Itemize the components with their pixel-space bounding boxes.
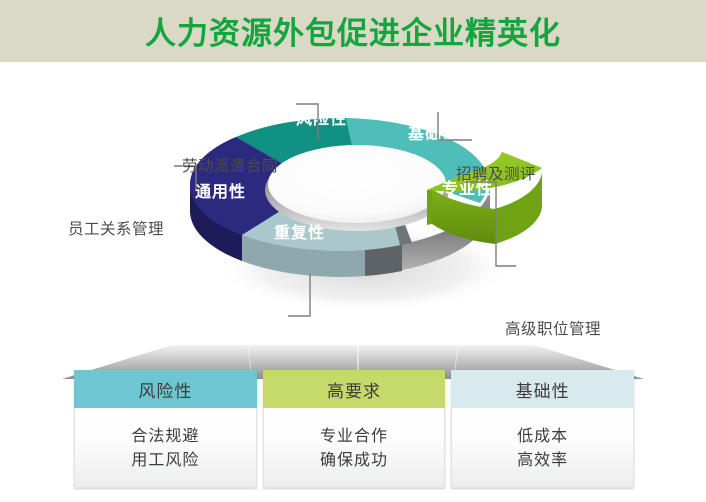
table-cell-risk-line1: 合法规避 bbox=[131, 424, 199, 447]
callout-label-employee-relations: 员工关系管理 bbox=[68, 217, 164, 239]
segment-label-repetitive: 重复性 bbox=[274, 223, 325, 242]
segment-label-general: 通用性 bbox=[195, 182, 246, 201]
table-column-risk[interactable]: 风险性 合法规避 用工风险 bbox=[74, 370, 257, 488]
table-body-basic: 低成本 高效率 bbox=[451, 408, 634, 488]
table-column-high-requirement[interactable]: 高要求 专业合作 确保成功 bbox=[263, 370, 446, 488]
summary-table: 风险性 合法规避 用工风险 高要求 专业合作 确保成功 基础性 低成本 高效率 bbox=[0, 337, 706, 502]
ring-hole-face bbox=[268, 145, 446, 223]
callout-label-labor-dispatch-contract: 劳动派遣合同 bbox=[182, 154, 278, 176]
callout-label-recruitment-assessment: 招聘及测评 bbox=[456, 162, 536, 184]
3d-doughnut-chart: 风险性 基础性 通用性 重复性 专业性 bbox=[150, 72, 570, 332]
table-header-high-requirement: 高要求 bbox=[263, 370, 446, 408]
table-cell-hr-line2: 确保成功 bbox=[320, 448, 388, 471]
table-header-basic: 基础性 bbox=[451, 370, 634, 408]
segment-professional-edge bbox=[427, 189, 432, 225]
title-band: 人力资源外包促进企业精英化 bbox=[0, 0, 706, 62]
segment-label-risk: 风险性 bbox=[296, 109, 347, 128]
table-columns: 风险性 合法规避 用工风险 高要求 专业合作 确保成功 基础性 低成本 高效率 bbox=[74, 370, 634, 488]
table-column-basic[interactable]: 基础性 低成本 高效率 bbox=[451, 370, 634, 488]
table-cell-hr-line1: 专业合作 bbox=[320, 424, 388, 447]
segment-label-basic: 基础性 bbox=[407, 124, 459, 143]
table-body-high-requirement: 专业合作 确保成功 bbox=[263, 408, 446, 488]
table-header-risk: 风险性 bbox=[74, 370, 257, 408]
segment-side-split bbox=[365, 245, 402, 276]
table-cell-basic-line1: 低成本 bbox=[517, 424, 568, 447]
table-cell-basic-line2: 高效率 bbox=[517, 448, 568, 471]
table-cell-risk-line2: 用工风险 bbox=[131, 448, 199, 471]
diagram-stage: 风险性 基础性 通用性 重复性 专业性 劳动派遣合同 员工关系管理 招聘及测评 … bbox=[0, 62, 706, 337]
page-title: 人力资源外包促进企业精英化 bbox=[0, 8, 706, 53]
callout-label-senior-position-mgmt: 高级职位管理 bbox=[505, 317, 601, 339]
table-body-risk: 合法规避 用工风险 bbox=[74, 408, 257, 488]
